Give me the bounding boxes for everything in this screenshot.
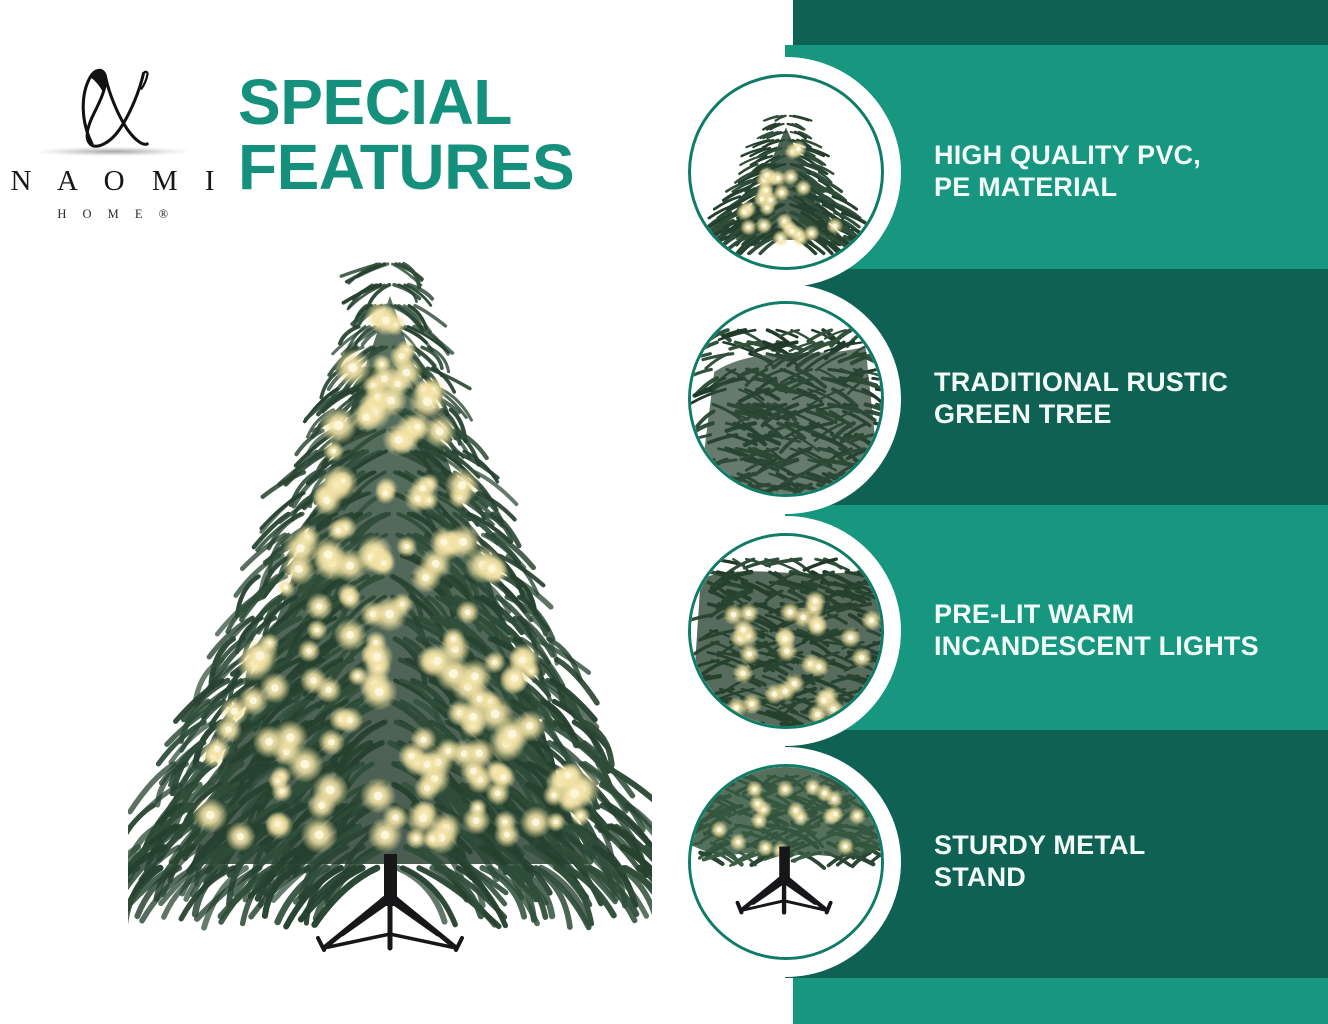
tree-branch-closeup-thumb: [688, 301, 884, 497]
feature-thumbnail-high-quality-pvc-pe-material[interactable]: [680, 66, 892, 278]
brand-sub: H O M E ®: [50, 207, 174, 222]
feature-item-pre-lit-warm-incandescent-lights[interactable]: PRE-LIT WARM INCANDESCENT LIGHTS: [680, 525, 1320, 737]
page-title: SPECIAL FEATURES: [238, 72, 574, 198]
feature-thumbnail-pre-lit-warm-incandescent-lights[interactable]: [680, 525, 892, 737]
page-title-line2: FEATURES: [238, 137, 574, 198]
feature-label-high-quality-pvc-pe-material: HIGH QUALITY PVC, PE MATERIAL: [934, 140, 1201, 204]
band-bottom-light: [793, 978, 1328, 1024]
christmas-tree-icon: [128, 248, 652, 972]
logo-shadow: [38, 147, 188, 156]
metal-tree-stand-thumb: [688, 764, 884, 960]
brand-name: N A O M I: [0, 165, 224, 198]
full-christmas-tree-thumb: [688, 74, 884, 270]
feature-thumbnail-sturdy-metal-stand[interactable]: [680, 756, 892, 968]
feature-label-sturdy-metal-stand: STURDY METAL STAND: [934, 830, 1145, 894]
band-top-dark: [793, 0, 1328, 45]
feature-thumbnail-traditional-rustic-green-tree[interactable]: [680, 293, 892, 505]
feature-item-sturdy-metal-stand[interactable]: STURDY METAL STAND: [680, 756, 1320, 968]
feature-item-traditional-rustic-green-tree[interactable]: TRADITIONAL RUSTIC GREEN TREE: [680, 293, 1320, 505]
feature-item-high-quality-pvc-pe-material[interactable]: HIGH QUALITY PVC, PE MATERIAL: [680, 66, 1320, 278]
brand-logo: N A O M I H O M E ®: [10, 62, 215, 222]
feature-infographic-page: N A O M I H O M E ® SPECIAL FEATURES: [0, 0, 1328, 1024]
naomi-script-monogram-icon: [53, 62, 173, 153]
feature-label-traditional-rustic-green-tree: TRADITIONAL RUSTIC GREEN TREE: [934, 367, 1228, 431]
page-title-line1: SPECIAL: [238, 66, 512, 138]
feature-label-pre-lit-warm-incandescent-lights: PRE-LIT WARM INCANDESCENT LIGHTS: [934, 599, 1259, 663]
lit-branches-closeup-thumb: [688, 533, 884, 729]
hero-christmas-tree-image: [128, 248, 652, 972]
